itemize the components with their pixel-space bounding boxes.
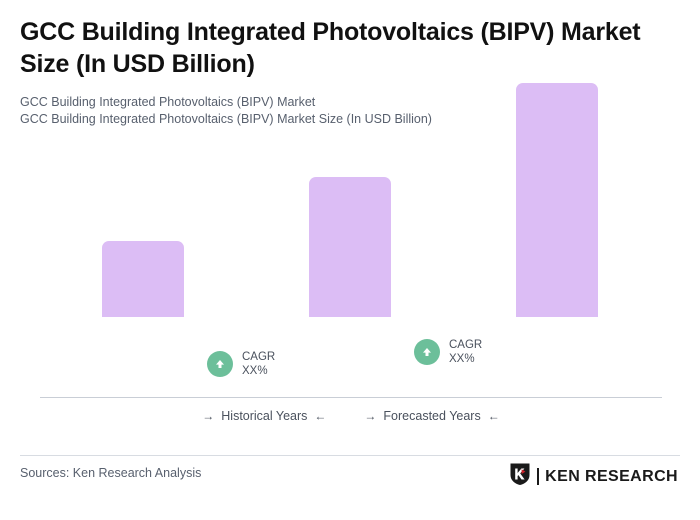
ken-research-shield-icon [509,462,531,491]
cagr-badge-1[interactable]: CAGR XX% [207,350,275,378]
cagr-badge-2-line2: XX% [449,353,475,365]
footer-divider [20,455,680,456]
ken-research-logo: KEN RESEARCH [509,462,678,491]
cagr-badge-1-text: CAGR XX% [242,350,275,378]
period-historical-years-label: Historical Years [221,409,307,423]
cagr-badge-2-line1: CAGR [449,339,482,351]
ken-research-wordmark: KEN RESEARCH [545,468,678,486]
cagr-badge-2[interactable]: CAGR XX% [414,338,482,366]
cagr-badge-2-text: CAGR XX% [449,338,482,366]
cagr-badge-1-line2: XX% [242,365,268,377]
period-legend: → Historical Years ← → Forecasted Years … [40,409,662,423]
period-historical-years: → Historical Years ← [202,409,326,423]
chart-plot-area: ~USD XX Bn CAGR XX% ~USD 1.2 Bn CAGR XX% [0,0,700,440]
period-forecasted-years-label: Forecasted Years [383,409,480,423]
period-forecasted-years: → Forecasted Years ← [364,409,499,423]
arrow-right-icon: → [364,409,376,423]
bar-1[interactable] [102,241,184,317]
arrow-up-icon [414,339,440,365]
arrow-up-icon [207,351,233,377]
sources-text: Sources: Ken Research Analysis [20,466,201,480]
arrow-left-icon: ← [314,409,326,423]
bar-3[interactable] [516,83,598,317]
arrow-right-icon: → [202,409,214,423]
cagr-badge-1-line1: CAGR [242,351,275,363]
bar-2[interactable] [309,177,391,317]
arrow-left-icon: ← [488,409,500,423]
x-axis-line [40,397,662,398]
ken-research-divider [537,468,539,485]
